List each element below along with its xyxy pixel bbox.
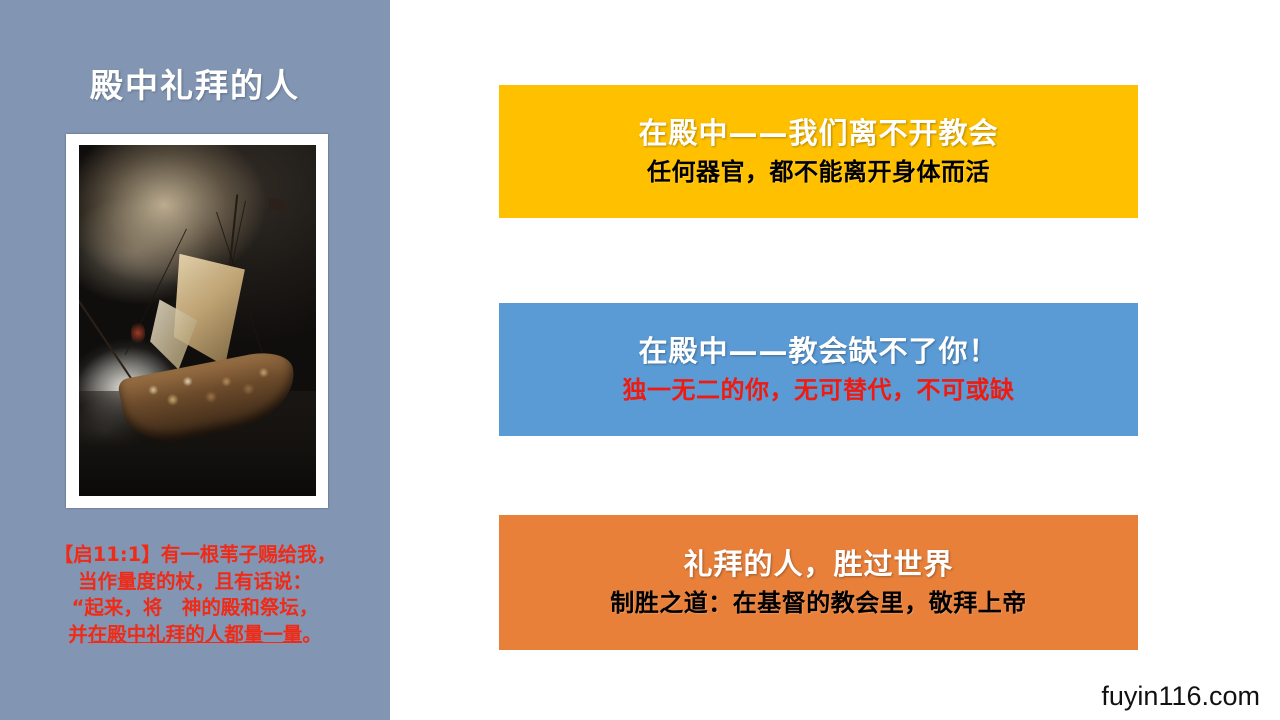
verse-line-1: 【启11:1】有一根苇子赐给我， <box>8 542 382 569</box>
point-box-headline: 礼拜的人，胜过世界 <box>683 547 953 582</box>
painting-frame <box>66 134 328 508</box>
point-box-overcome-world: 礼拜的人，胜过世界 制胜之道：在基督的教会里，敬拜上帝 <box>499 515 1138 650</box>
verse-line-4-prefix: 并 <box>68 623 88 646</box>
point-box-subline: 任何器官，都不能离开身体而活 <box>647 157 990 187</box>
verse-line-3: “起来，将 神的殿和祭坛， <box>8 595 382 622</box>
verse-line-4: 并在殿中礼拜的人都量一量。 <box>8 622 382 649</box>
verse-reference: 【启11:1】 <box>54 543 161 566</box>
scripture-verse: 【启11:1】有一根苇子赐给我， 当作量度的杖，且有话说： “起来，将 神的殿和… <box>8 542 382 648</box>
verse-line-1-text: 有一根苇子赐给我， <box>161 543 337 566</box>
verse-line-2: 当作量度的杖，且有话说： <box>8 569 382 596</box>
sidebar-panel: 殿中礼拜的人 【启11:1】有一根苇子赐给我， 当作量度的杖，且有话说： “起来… <box>0 0 390 720</box>
site-watermark: fuyin116.com <box>1101 681 1260 712</box>
point-box-subline: 独一无二的你，无可替代，不可或缺 <box>623 375 1015 405</box>
verse-line-4-underlined: 在殿中礼拜的人都量一量 <box>88 623 303 646</box>
point-box-headline: 在殿中——教会缺不了你！ <box>638 334 998 369</box>
painting-storm-on-sea-of-galilee <box>79 145 316 496</box>
point-box-church-needs-you: 在殿中——教会缺不了你！ 独一无二的你，无可替代，不可或缺 <box>499 303 1138 436</box>
point-box-temple-church: 在殿中——我们离不开教会 任何器官，都不能离开身体而活 <box>499 85 1138 218</box>
point-box-headline: 在殿中——我们离不开教会 <box>638 116 998 151</box>
verse-line-4-suffix: 。 <box>302 623 322 646</box>
point-box-subline: 制胜之道：在基督的教会里，敬拜上帝 <box>610 588 1027 618</box>
page-title: 殿中礼拜的人 <box>0 68 390 104</box>
